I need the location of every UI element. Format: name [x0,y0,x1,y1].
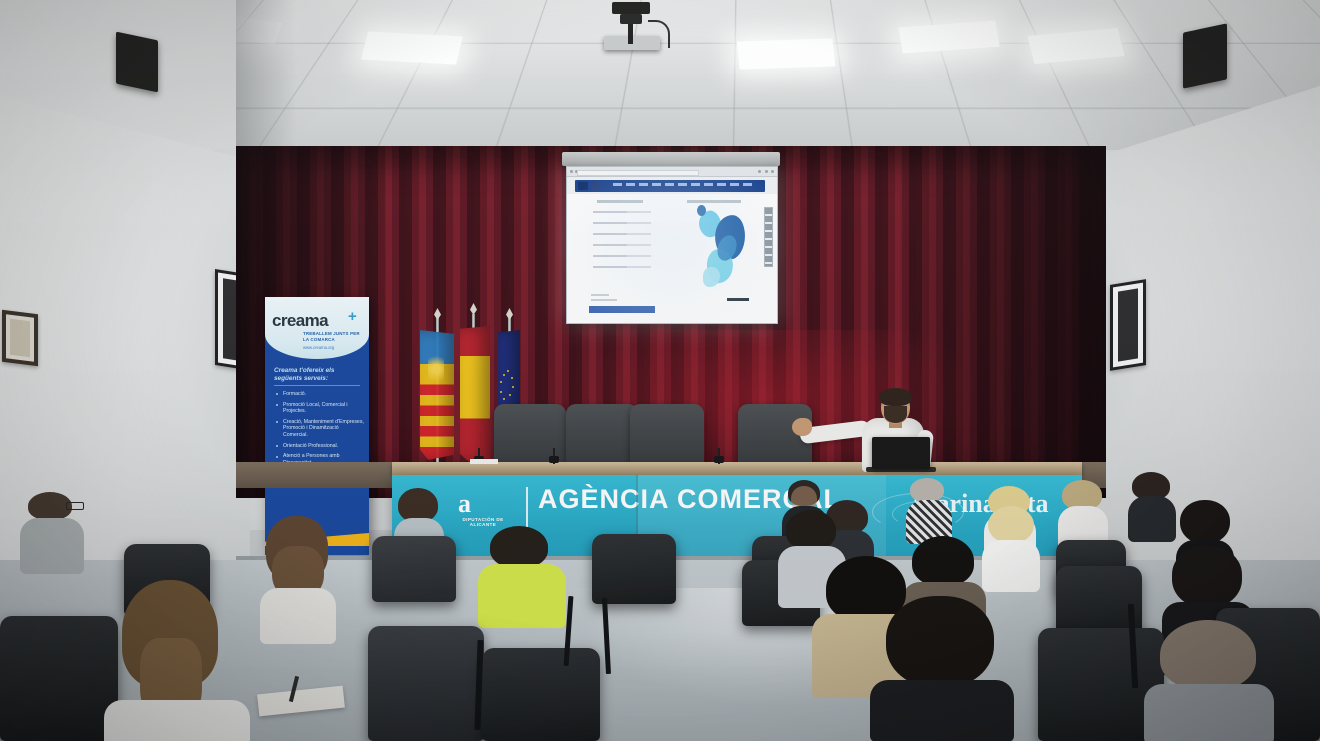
projector-cable [648,20,670,48]
presenter-hair [879,388,912,406]
download-report-button[interactable] [589,306,655,313]
projection-screen[interactable] [566,166,778,324]
projection-screen-case [562,152,780,166]
banner-vertical-divider [526,487,528,531]
list-item: Promoció Local, Comercial i Projectes. [276,402,364,415]
flag-valencia-crest [428,352,444,386]
map-legend [764,207,773,267]
diputacion-logo-caption: DIPUTACIÓN DE ALICANTE [450,517,516,528]
light-panel-2 [737,38,836,69]
chair-r4-3 [482,648,600,741]
creama-logo-text: creama [272,311,328,331]
flag-comunitat-valenciana [420,330,454,460]
creama-plus-icon: + [348,308,357,325]
microphone-2-icon [549,456,559,463]
banner-url: www.creama.org [303,345,334,350]
banner-tagline: TREBALLEM JUNTS PER LA COMARCA [303,331,365,342]
stage-chair-2 [566,404,638,466]
presenter-beard [884,406,907,423]
browser-chrome [567,167,777,177]
flag-spain [460,326,490,462]
presentation-room-photo: creama + TREBALLEM JUNTS PER LA COMARCA … [0,0,1320,741]
chair-r3-3 [592,534,676,604]
framed-picture-far-left [2,310,38,366]
wall-speaker-left-icon [116,32,158,93]
map-region-island [697,205,706,216]
list-item: Formació. [276,391,364,397]
list-item: Creació, Manteniment d'Empreses, Promoci… [276,419,364,438]
site-emblem-icon [592,182,600,190]
nav-menu-items[interactable] [613,183,755,186]
presenter-hand [792,418,812,436]
framed-picture-right [1110,279,1146,371]
stage-chair-3 [630,404,704,466]
chair-r3-2 [372,536,456,602]
panel-heading-left [597,200,643,203]
papers-on-table [470,459,498,464]
wall-speaker-right-icon [1183,23,1227,88]
map-note-line-1 [591,299,617,301]
site-logo-icon [578,182,588,190]
list-item: Orientació Professional. [276,443,364,449]
light-panel-1 [361,31,463,64]
eyeglasses-icon [66,502,84,510]
panel-heading-right [687,200,741,203]
rollup-banner-creama: creama + TREBALLEM JUNTS PER LA COMARCA … [265,297,369,555]
map-note-line-2 [591,294,609,296]
projector-icon [612,2,650,14]
banner-divider [274,385,360,386]
microphone-3-icon [714,456,724,463]
diputacion-logo-mark: a [458,489,470,519]
data-table-labels [593,211,627,275]
chair-r4-1 [0,616,118,741]
chair-r4-2 [368,626,484,741]
banner-section-title: Creama t'ofereix els següents serveis: [274,367,362,383]
laptop-icon[interactable] [872,437,930,469]
browser-url-bar[interactable] [577,170,699,176]
map-scale-bar [727,298,749,301]
projector-lens [620,14,642,24]
